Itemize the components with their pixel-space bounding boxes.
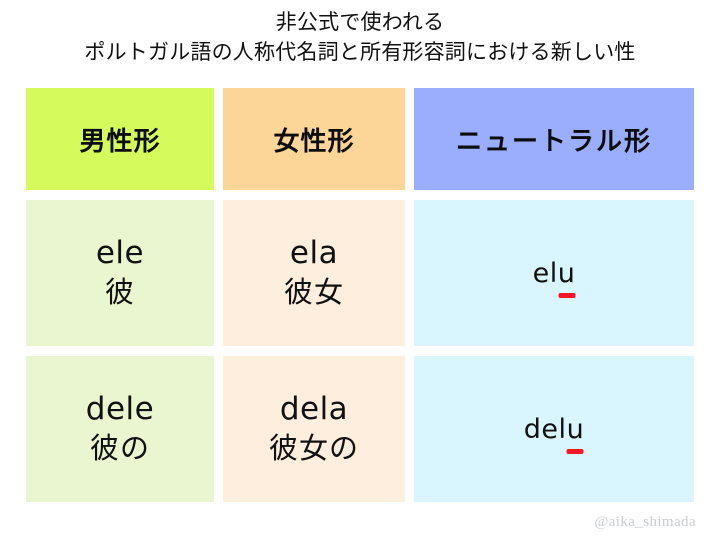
cell-word-feminine-row2: dela [280,392,348,428]
cell-word-neutral-row1-stem: el [533,258,558,289]
cell-word-feminine-row1: ela [290,236,338,272]
cell-word-neutral-row1: elu [533,258,576,289]
table-header-masculine-label: 男性形 [79,121,160,158]
title-line-2: ポルトガル語の人称代名詞と所有形容詞における新しい性 [0,38,720,68]
table-row: elu [414,200,694,346]
cell-word-masculine-row1: ele [96,236,144,272]
author-credit: @aika_shimada [595,514,696,531]
gender-forms-table: 男性形 女性形 ニュートラル形 ele 彼 ela 彼女 elu dele 彼の… [26,88,694,502]
cell-gloss-feminine-row2: 彼女の [269,430,359,466]
page-title: 非公式で使われる ポルトガル語の人称代名詞と所有形容詞における新しい性 [0,8,720,68]
table-header-masculine: 男性形 [26,88,214,190]
table-row: delu [414,356,694,502]
cell-word-neutral-row2-stem: del [524,414,567,445]
table-header-feminine: 女性形 [223,88,405,190]
cell-gloss-masculine-row1: 彼 [105,274,135,310]
cell-word-neutral-row2: delu [524,414,584,445]
title-line-1: 非公式で使われる [0,8,720,38]
cell-gloss-feminine-row1: 彼女 [284,274,344,310]
cell-word-neutral-row2-marked-letter: u [567,414,585,445]
slide-canvas: 非公式で使われる ポルトガル語の人称代名詞と所有形容詞における新しい性 男性形 … [0,0,720,540]
cell-word-neutral-row1-marked-letter: u [558,258,576,289]
table-row: dela 彼女の [223,356,405,502]
cell-gloss-masculine-row2: 彼の [90,430,150,466]
table-row: dele 彼の [26,356,214,502]
cell-word-masculine-row2: dele [86,392,154,428]
table-header-neutral-label: ニュートラル形 [456,121,652,158]
table-header-feminine-label: 女性形 [273,121,354,158]
table-row: ele 彼 [26,200,214,346]
table-header-neutral: ニュートラル形 [414,88,694,190]
table-row: ela 彼女 [223,200,405,346]
